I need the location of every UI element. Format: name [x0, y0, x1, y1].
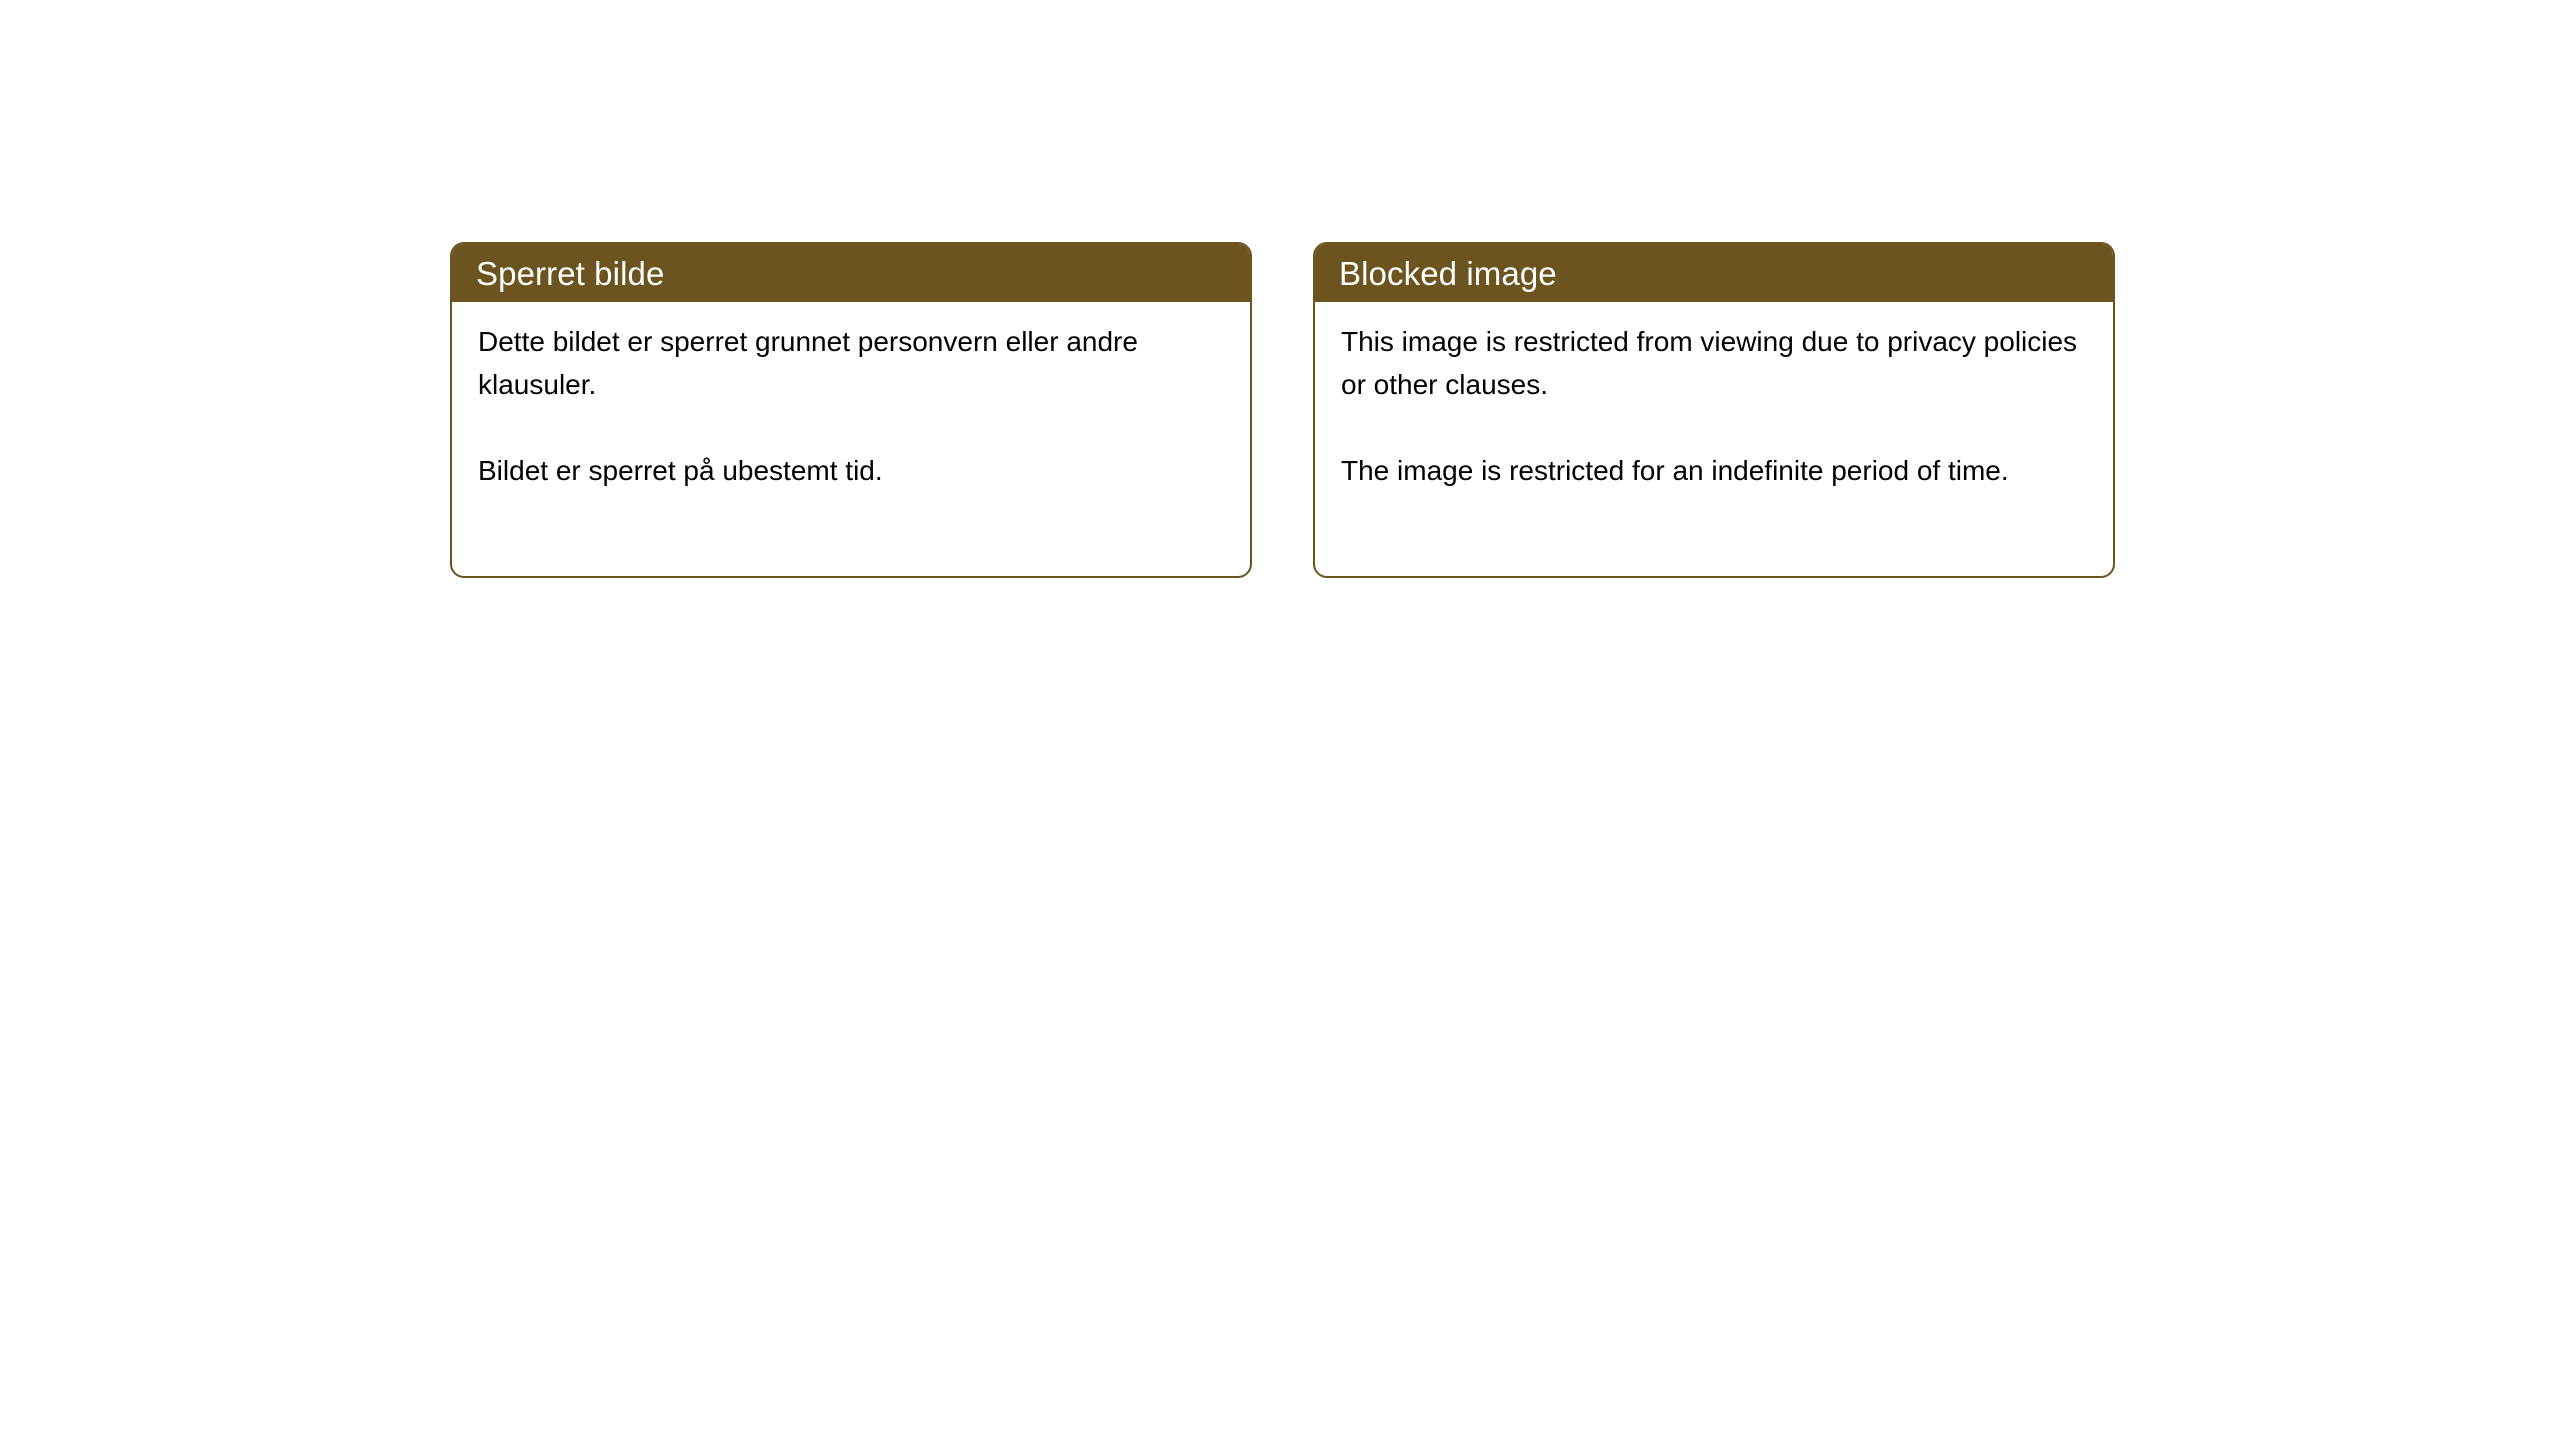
card-header-english: Blocked image	[1315, 244, 2113, 302]
card-paragraph-secondary-english: The image is restricted for an indefinit…	[1341, 449, 2081, 492]
card-header-norwegian: Sperret bilde	[452, 244, 1250, 302]
card-paragraph-primary-norwegian: Dette bildet er sperret grunnet personve…	[478, 320, 1218, 406]
card-body-english: This image is restricted from viewing du…	[1315, 302, 2113, 492]
page-canvas: Sperret bilde Dette bildet er sperret gr…	[0, 0, 2560, 1440]
card-paragraph-secondary-norwegian: Bildet er sperret på ubestemt tid.	[478, 449, 1218, 492]
blocked-image-card-english: Blocked image This image is restricted f…	[1313, 242, 2115, 578]
card-title-norwegian: Sperret bilde	[476, 257, 664, 290]
card-body-norwegian: Dette bildet er sperret grunnet personve…	[452, 302, 1250, 492]
card-title-english: Blocked image	[1339, 257, 1557, 290]
blocked-image-card-norwegian: Sperret bilde Dette bildet er sperret gr…	[450, 242, 1252, 578]
card-paragraph-primary-english: This image is restricted from viewing du…	[1341, 320, 2081, 406]
